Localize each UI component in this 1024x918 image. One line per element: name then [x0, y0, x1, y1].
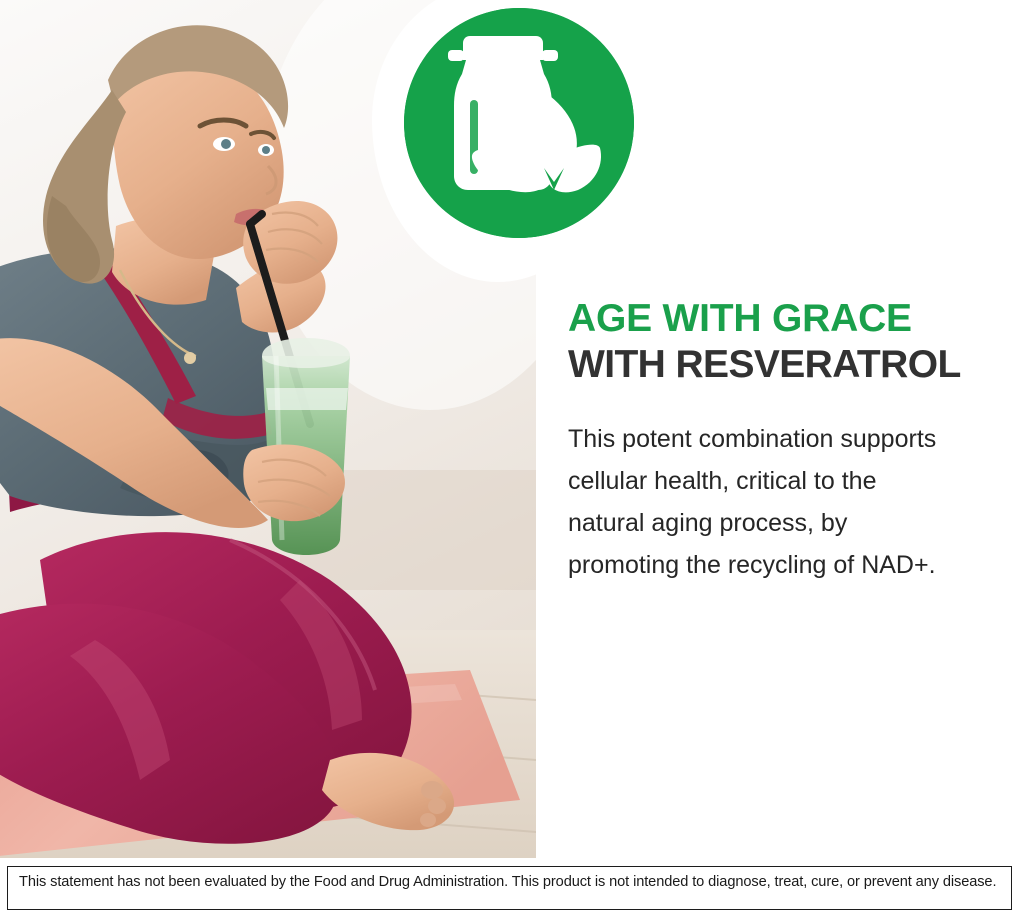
text-column: AGE WITH GRACE WITH RESVERATROL This pot… — [568, 296, 1018, 586]
fda-disclaimer-text: This statement has not been evaluated by… — [19, 872, 1001, 892]
headline-line-2: WITH RESVERATROL — [568, 343, 961, 386]
supplement-bottle-with-leaves-icon — [404, 8, 634, 238]
page-title: AGE WITH GRACE WITH RESVERATROL — [568, 296, 1018, 388]
product-promo-poster: AGE WITH GRACE WITH RESVERATROL This pot… — [0, 0, 1024, 918]
body-paragraph: This potent combination supports cellula… — [568, 388, 958, 586]
supplement-badge — [404, 8, 634, 238]
headline-line-1: AGE WITH GRACE — [568, 297, 912, 340]
fda-disclaimer-box: This statement has not been evaluated by… — [7, 866, 1012, 910]
